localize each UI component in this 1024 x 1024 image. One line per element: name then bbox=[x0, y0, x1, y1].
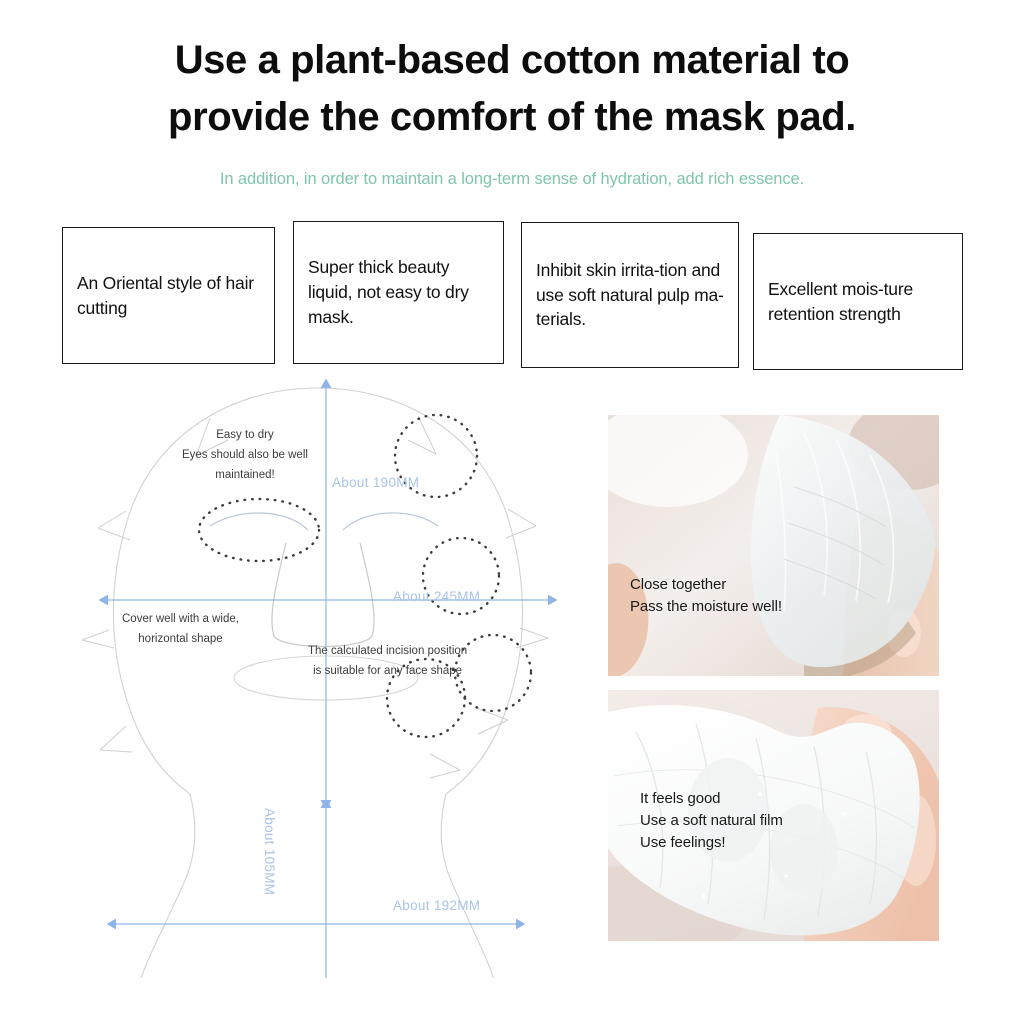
product-detail-page: Use a plant-based cotton material to pro… bbox=[0, 0, 1024, 1024]
wet-sheet-illustration bbox=[608, 415, 939, 676]
feature-box-text: Inhibit skin irrita-tion and use soft na… bbox=[522, 258, 738, 333]
dimension-label-width-lower: About 192MM bbox=[393, 898, 480, 913]
dimension-label-width-upper: About 190MM bbox=[332, 475, 419, 490]
feature-box-moisture-retention: Excellent mois-ture retention strength bbox=[753, 233, 963, 370]
feature-box-hair-cutting: An Oriental style of hair cutting bbox=[62, 227, 275, 364]
page-title-line-1: Use a plant-based cotton material to bbox=[175, 38, 850, 82]
mask-dimension-diagram: About 190MM About 245MM About 192MM Abou… bbox=[78, 378, 578, 978]
photo-caption-cotton-sheet: It feels good Use a soft natural film Us… bbox=[640, 788, 783, 855]
diagram-note-eyes: Easy to dry Eyes should also be well mai… bbox=[182, 426, 308, 485]
feature-box-text: Super thick beauty liquid, not easy to d… bbox=[294, 255, 503, 330]
page-header: Use a plant-based cotton material to pro… bbox=[0, 32, 1024, 189]
diagram-note-incision: The calculated incision position is suit… bbox=[308, 642, 467, 682]
feature-box-text: An Oriental style of hair cutting bbox=[63, 271, 274, 321]
mask-eye-openings bbox=[210, 513, 438, 530]
diagram-note-cover: Cover well with a wide, horizontal shape bbox=[122, 610, 239, 650]
feature-box-skin-irritation: Inhibit skin irrita-tion and use soft na… bbox=[521, 222, 739, 368]
feature-box-text: Excellent mois-ture retention strength bbox=[754, 277, 962, 327]
photo-caption-wet-sheet: Close together Pass the moisture well! bbox=[630, 574, 782, 618]
dimension-lines bbox=[108, 388, 548, 978]
page-subtitle: In addition, in order to maintain a long… bbox=[0, 170, 1024, 189]
dimension-label-height-lower: About 105MM bbox=[262, 808, 277, 895]
page-title-line-2: provide the comfort of the mask pad. bbox=[62, 89, 962, 146]
product-photo-wet-sheet: Close together Pass the moisture well! bbox=[608, 415, 939, 676]
page-title: Use a plant-based cotton material to pro… bbox=[62, 32, 962, 146]
mask-nose-opening bbox=[272, 543, 374, 647]
dimension-label-height-total: About 245MM bbox=[393, 589, 480, 604]
feature-box-beauty-liquid: Super thick beauty liquid, not easy to d… bbox=[293, 221, 504, 364]
product-photo-cotton-sheet: It feels good Use a soft natural film Us… bbox=[608, 690, 939, 941]
